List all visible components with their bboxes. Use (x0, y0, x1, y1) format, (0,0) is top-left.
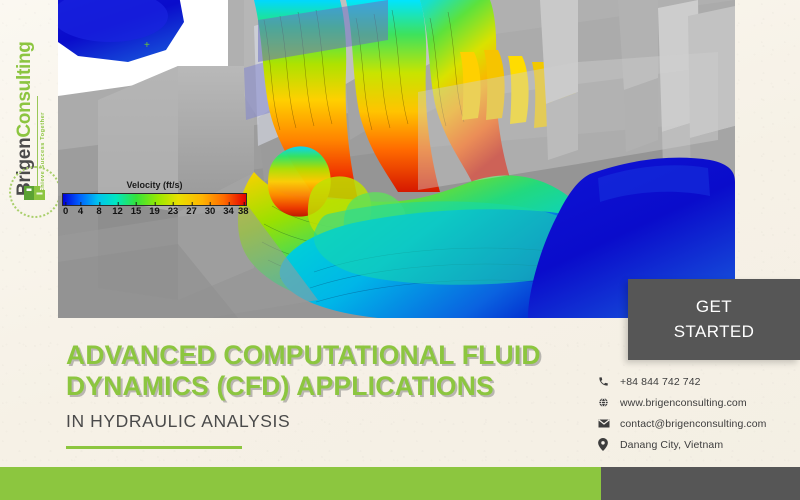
legend-tick: 8 (96, 206, 101, 217)
headline-line-1: ADVANCED COMPUTATIONAL FLUID (66, 340, 606, 371)
contact-row-email[interactable]: contact@brigenconsulting.com (598, 414, 800, 433)
legend-tick: 4 (78, 206, 83, 217)
envelope-icon (598, 419, 620, 428)
brand-logo[interactable]: BrigenConsulting Achieve Success Togethe… (0, 0, 58, 245)
legend-tick-labels: 0481215192327303438 (62, 206, 247, 222)
globe-icon (598, 397, 620, 408)
legend-tick: 27 (186, 206, 197, 217)
legend-tick: 30 (205, 206, 216, 217)
brigen-monogram-icon (9, 166, 61, 218)
footer-bar (0, 467, 800, 500)
location-pin-icon (598, 438, 620, 451)
headline-block: ADVANCED COMPUTATIONAL FLUID DYNAMICS (C… (66, 340, 606, 449)
contact-details: +84 844 742 742 www.brigenconsulting.com… (598, 372, 800, 456)
legend-title: Velocity (ft/s) (62, 180, 247, 190)
legend-tick: 23 (168, 206, 179, 217)
footer-bar-green-segment (0, 467, 601, 500)
cfd-hydraulic-simulation-image: + (58, 0, 735, 318)
contact-row-address[interactable]: Danang City, Vietnam (598, 435, 800, 454)
legend-tick: 12 (112, 206, 123, 217)
phone-icon (598, 376, 620, 387)
legend-tick: 34 (223, 206, 234, 217)
footer-bar-gray-segment (601, 467, 800, 500)
contact-row-phone[interactable]: +84 844 742 742 (598, 372, 800, 391)
headline-underline (66, 446, 242, 449)
headline-subtitle: IN HYDRAULIC ANALYSIS (66, 411, 606, 432)
get-started-label: GET STARTED (674, 295, 755, 343)
legend-tick: 38 (238, 206, 249, 217)
svg-text:+: + (144, 40, 150, 51)
legend-tick: 15 (131, 206, 142, 217)
legend-tick: 19 (149, 206, 160, 217)
legend-tick: 0 (63, 206, 68, 217)
contact-email-text: contact@brigenconsulting.com (620, 418, 767, 430)
brand-name-part2: Consulting (14, 41, 35, 137)
headline-line-2: DYNAMICS (CFD) APPLICATIONS (66, 371, 606, 402)
contact-website-text: www.brigenconsulting.com (620, 397, 747, 409)
contact-address-text: Danang City, Vietnam (620, 439, 723, 451)
get-started-button[interactable]: GET STARTED (628, 279, 800, 360)
velocity-legend: Velocity (ft/s) 0481215192327303438 (62, 180, 247, 222)
contact-phone-text: +84 844 742 742 (620, 376, 701, 388)
contact-row-website[interactable]: www.brigenconsulting.com (598, 393, 800, 412)
